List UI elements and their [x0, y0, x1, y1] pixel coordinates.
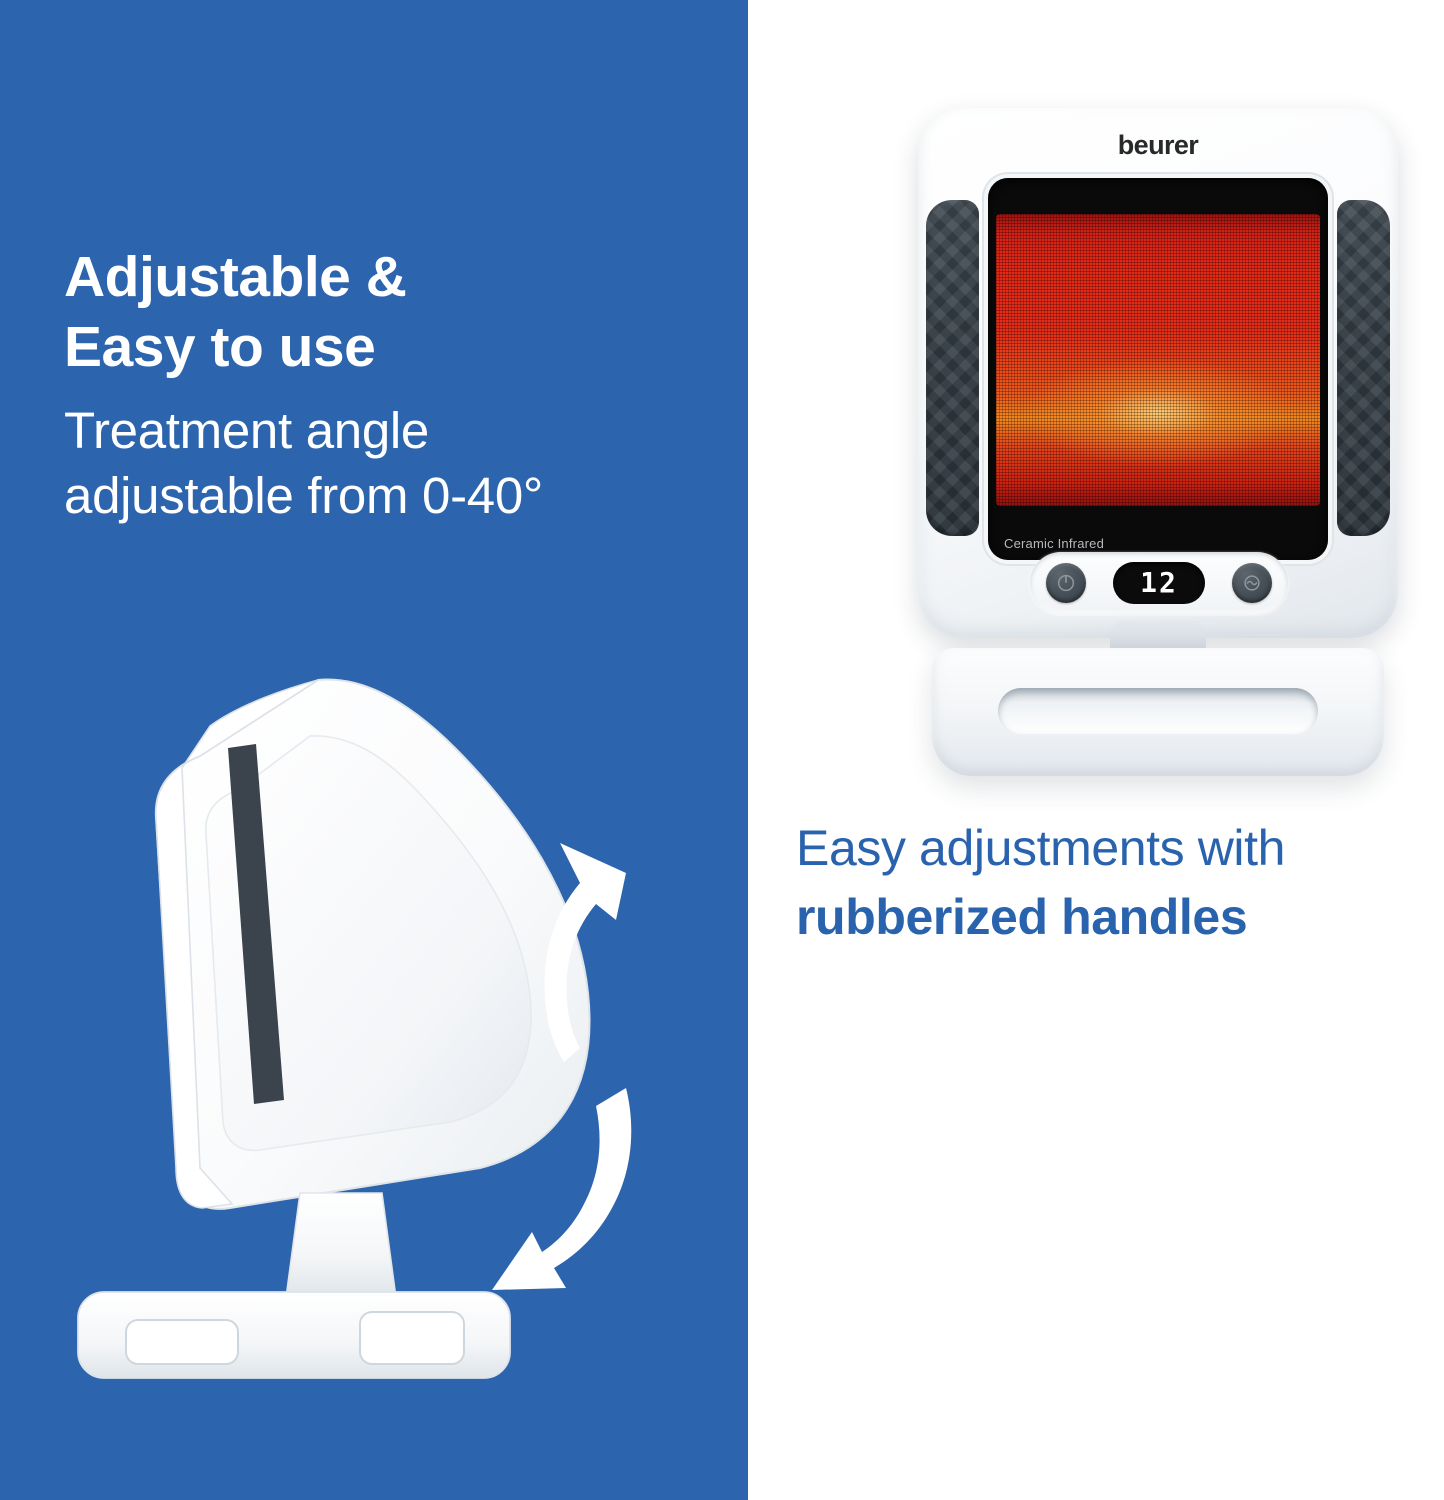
left-blue-panel: Adjustable & Easy to use Treatment angle… — [0, 0, 748, 1500]
timer-icon — [1241, 572, 1263, 594]
right-white-panel: beurer Ceramic Infrared — [748, 0, 1444, 1500]
headline: Adjustable & Easy to use — [64, 243, 724, 382]
timer-button[interactable] — [1232, 563, 1272, 603]
lamp-side-base — [78, 1292, 510, 1378]
subheadline-line-1: Treatment angle — [64, 402, 429, 459]
headline-line-1: Adjustable & — [64, 245, 406, 309]
lamp-shell: beurer Ceramic Infrared — [918, 108, 1398, 638]
subheadline: Treatment angle adjustable from 0-40° — [64, 398, 754, 529]
timer-display: 12 — [1113, 562, 1205, 604]
product-front-view: beurer Ceramic Infrared — [898, 100, 1418, 820]
feature-caption: Easy adjustments with rubberized handles — [796, 818, 1432, 948]
subheadline-line-2: adjustable from 0-40° — [64, 463, 754, 528]
control-panel: 12 — [1030, 552, 1288, 614]
base-handle-cutout — [998, 688, 1318, 734]
rubberized-grip-right-icon — [1337, 200, 1390, 536]
lamp-side-neck — [286, 1193, 396, 1298]
power-button[interactable] — [1046, 563, 1086, 603]
emitter-technology-label: Ceramic Infrared — [1004, 536, 1104, 551]
product-feature-graphic: Adjustable & Easy to use Treatment angle… — [0, 0, 1444, 1500]
rubberized-grip-left-icon — [926, 200, 979, 536]
infrared-emitter-window: Ceramic Infrared — [988, 178, 1328, 560]
side-view-illustration — [60, 648, 680, 1408]
lamp-base — [932, 648, 1384, 776]
emitter-mesh-grid — [996, 214, 1320, 506]
timer-display-value: 12 — [1140, 569, 1178, 597]
power-icon — [1055, 572, 1077, 594]
brand-logo: beurer — [918, 130, 1398, 161]
headline-line-2: Easy to use — [64, 313, 724, 383]
caption-line-1: Easy adjustments with — [796, 818, 1432, 879]
caption-line-2: rubberized handles — [796, 887, 1432, 948]
lamp-side-body — [156, 680, 590, 1209]
emitter-glow — [996, 214, 1320, 506]
